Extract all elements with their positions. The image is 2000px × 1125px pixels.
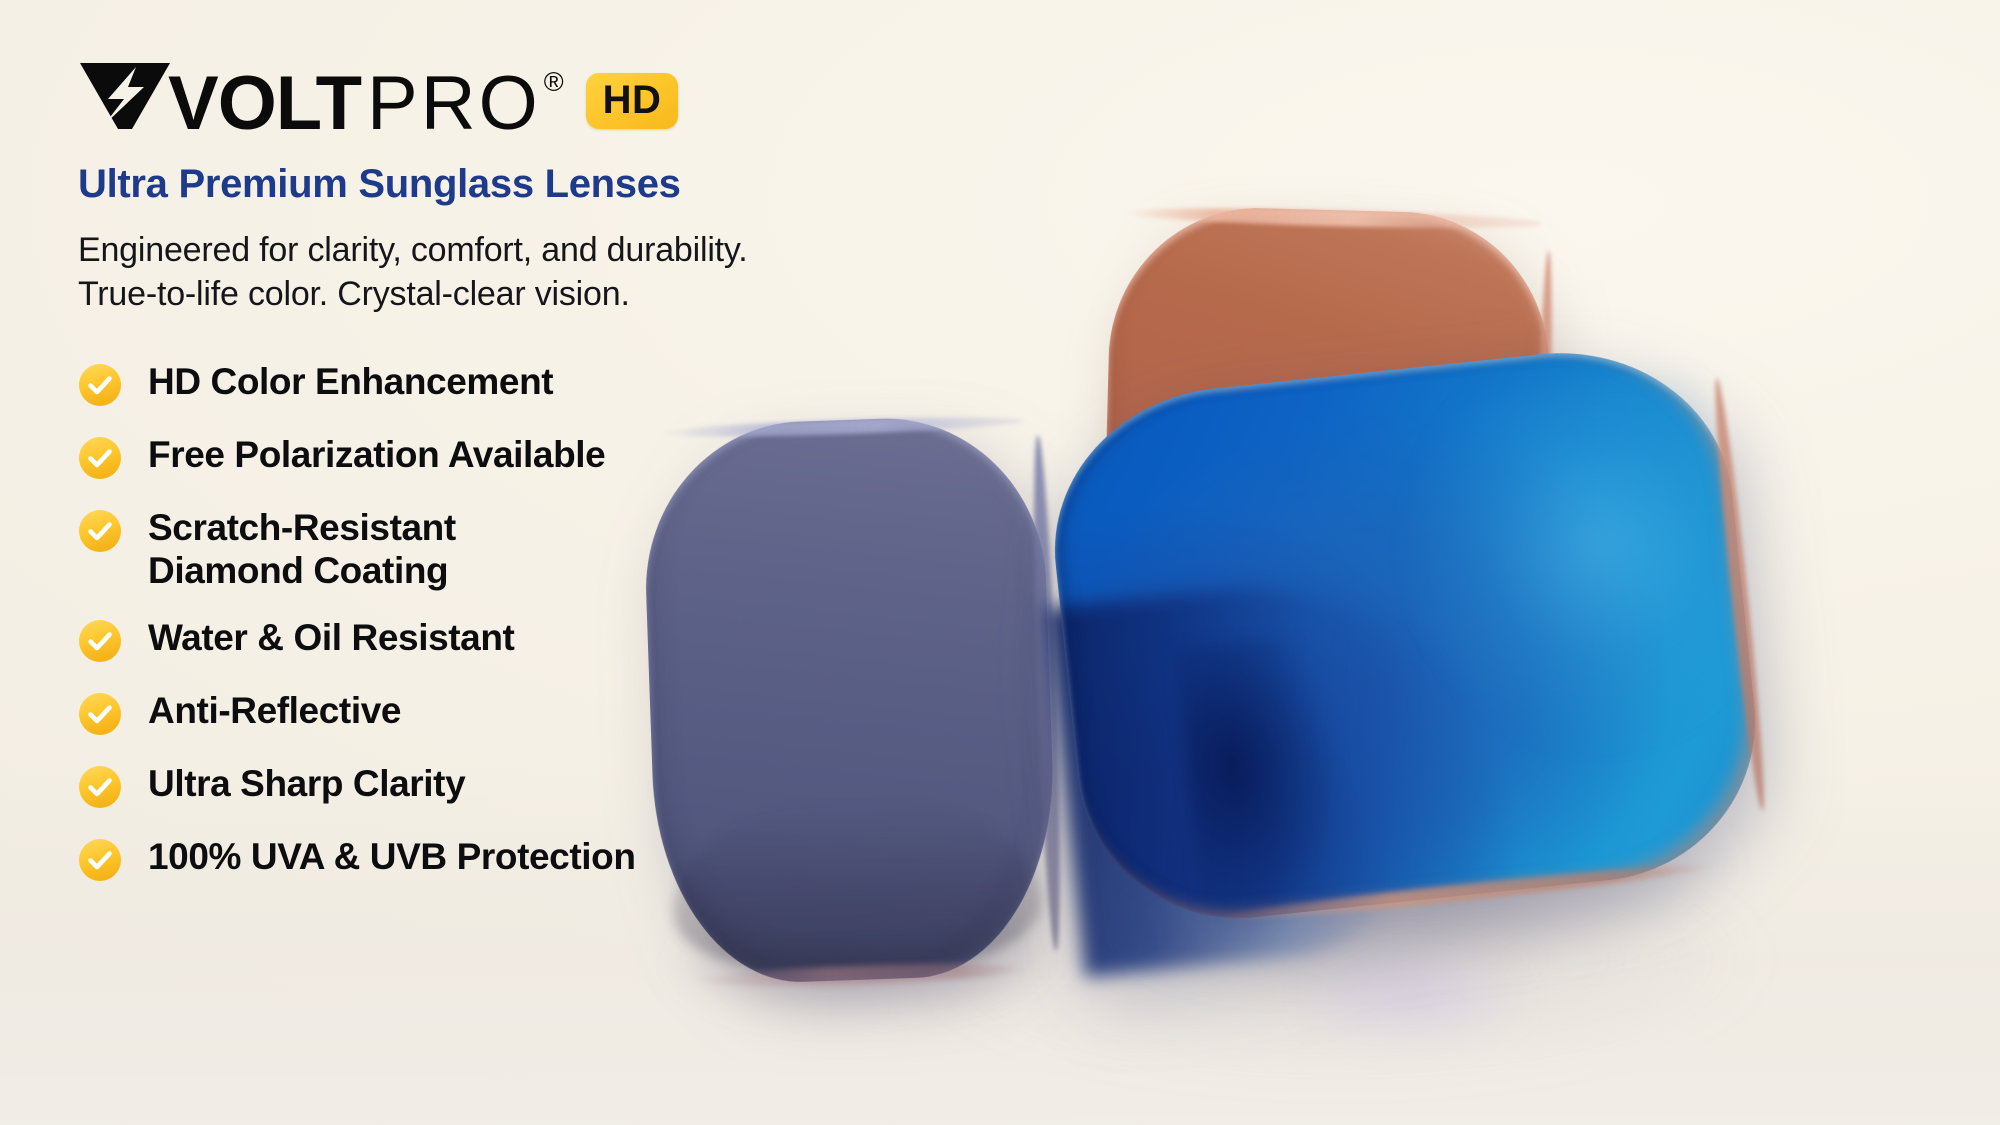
check-circle-icon <box>78 619 122 663</box>
feature-item-uva-uvb-protection: 100% UVA & UVB Protection <box>78 835 860 882</box>
check-circle-icon <box>78 838 122 882</box>
lead-line-1: Engineered for clarity, comfort, and dur… <box>78 228 860 272</box>
lightning-bolt-icon <box>78 61 172 129</box>
feature-item-ultra-sharp-clarity: Ultra Sharp Clarity <box>78 762 860 809</box>
feature-label-line-1: Scratch-Resistant <box>148 507 456 548</box>
feature-label: Scratch-Resistant Diamond Coating <box>148 506 456 591</box>
feature-label: Ultra Sharp Clarity <box>148 762 465 805</box>
content-column: VOLT PRO ® HD Ultra Premium Sunglass Len… <box>0 0 860 1125</box>
feature-label-line-1: Water & Oil Resistant <box>148 617 514 658</box>
registered-trademark-icon: ® <box>544 67 564 98</box>
feature-list: HD Color Enhancement Free Polarization A… <box>78 360 860 881</box>
check-circle-icon <box>78 436 122 480</box>
promo-banner: VOLT PRO ® HD Ultra Premium Sunglass Len… <box>0 0 2000 1125</box>
check-circle-icon <box>78 363 122 407</box>
check-circle-icon <box>78 509 122 553</box>
feature-label-line-1: 100% UVA & UVB Protection <box>148 836 636 877</box>
check-circle-icon <box>78 692 122 736</box>
logo-wordmark: VOLT PRO ® <box>78 61 564 142</box>
lead-paragraph: Engineered for clarity, comfort, and dur… <box>78 228 860 316</box>
logo-pro-text: PRO <box>367 66 541 142</box>
blue-mirror-lens <box>1039 336 1771 934</box>
feature-label: HD Color Enhancement <box>148 360 553 403</box>
feature-item-hd-color-enhancement: HD Color Enhancement <box>78 360 860 407</box>
page-subtitle: Ultra Premium Sunglass Lenses <box>78 162 860 206</box>
feature-item-free-polarization-available: Free Polarization Available <box>78 433 860 480</box>
feature-item-scratch-resistant-diamond-coating: Scratch-Resistant Diamond Coating <box>78 506 860 591</box>
feature-item-water-oil-resistant: Water & Oil Resistant <box>78 616 860 663</box>
logo-volt-text: VOLT <box>168 66 361 142</box>
check-circle-icon <box>78 765 122 809</box>
feature-label: Anti-Reflective <box>148 689 401 732</box>
product-photo <box>760 0 2000 1125</box>
feature-item-anti-reflective: Anti-Reflective <box>78 689 860 736</box>
feature-label-line-1: Free Polarization Available <box>148 434 605 475</box>
feature-label-line-2: Diamond Coating <box>148 550 456 592</box>
brand-logo: VOLT PRO ® HD <box>78 62 860 140</box>
hd-badge: HD <box>586 73 679 129</box>
lead-line-2: True-to-life color. Crystal-clear vision… <box>78 272 860 316</box>
feature-label: Free Polarization Available <box>148 433 605 476</box>
feature-label: 100% UVA & UVB Protection <box>148 835 636 878</box>
feature-label-line-1: Anti-Reflective <box>148 690 401 731</box>
feature-label-line-1: HD Color Enhancement <box>148 361 553 402</box>
feature-label: Water & Oil Resistant <box>148 616 514 659</box>
feature-label-line-1: Ultra Sharp Clarity <box>148 763 465 804</box>
